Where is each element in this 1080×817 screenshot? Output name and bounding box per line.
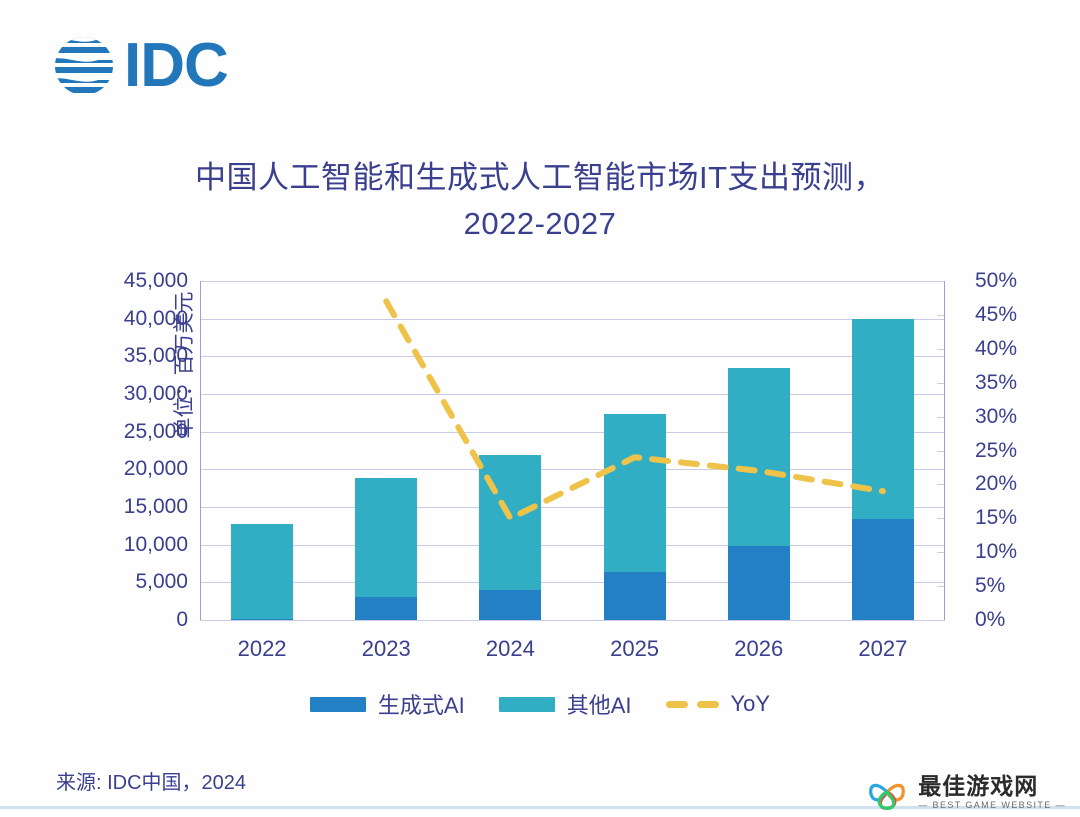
y-axis-right-tickmark bbox=[937, 315, 944, 316]
y-axis-right-tickmark bbox=[937, 620, 944, 621]
y-axis-right-tickmark bbox=[937, 417, 944, 418]
y-axis-left-tick: 15,000 bbox=[96, 495, 188, 519]
y-axis-right-tickmark bbox=[937, 586, 944, 587]
bar-segment-other-ai[interactable] bbox=[231, 524, 293, 619]
y-axis-right-tickmark bbox=[937, 518, 944, 519]
y-axis-left-tick: 25,000 bbox=[96, 420, 188, 444]
y-axis-right-line bbox=[944, 281, 945, 620]
y-axis-right-tick: 45% bbox=[975, 303, 1055, 327]
y-axis-right-tickmark bbox=[937, 451, 944, 452]
y-axis-left-tick: 30,000 bbox=[96, 382, 188, 406]
chart-legend: 生成式AI 其他AI YoY bbox=[0, 688, 1080, 720]
bar-column[interactable] bbox=[728, 281, 790, 620]
bar-segment-other-ai[interactable] bbox=[355, 478, 417, 597]
watermark-subtitle: — BEST GAME WEBSITE — bbox=[918, 801, 1066, 810]
y-axis-right-tick: 40% bbox=[975, 337, 1055, 361]
x-axis-tick: 2026 bbox=[699, 636, 819, 662]
y-axis-right-tick: 10% bbox=[975, 540, 1055, 564]
gridline bbox=[200, 620, 945, 621]
bar-column[interactable] bbox=[355, 281, 417, 620]
legend-label-gen-ai: 生成式AI bbox=[378, 688, 465, 720]
y-axis-right-tick: 35% bbox=[975, 371, 1055, 395]
bar-column[interactable] bbox=[479, 281, 541, 620]
legend-label-yoy: YoY bbox=[731, 691, 771, 717]
x-axis-tick: 2027 bbox=[823, 636, 943, 662]
idc-logo: IDC bbox=[52, 34, 228, 98]
x-axis-tick: 2025 bbox=[575, 636, 695, 662]
bar-segment-other-ai[interactable] bbox=[479, 455, 541, 589]
gridline bbox=[200, 432, 945, 433]
idc-globe-icon bbox=[52, 34, 116, 98]
y-axis-right-tickmark bbox=[937, 281, 944, 282]
bar-segment-gen-ai[interactable] bbox=[231, 619, 293, 621]
idc-wordmark: IDC bbox=[124, 35, 228, 97]
watermark-logo-icon bbox=[865, 770, 909, 814]
bar-column[interactable] bbox=[231, 281, 293, 620]
gridline bbox=[200, 394, 945, 395]
legend-swatch-other-ai bbox=[499, 697, 555, 712]
watermark: 最佳游戏网 — BEST GAME WEBSITE — bbox=[865, 770, 1066, 814]
y-axis-right-tick: 15% bbox=[975, 506, 1055, 530]
gridline bbox=[200, 545, 945, 546]
bar-column[interactable] bbox=[852, 281, 914, 620]
source-note: 来源: IDC中国，2024 bbox=[56, 766, 246, 795]
gridline bbox=[200, 582, 945, 583]
x-axis-tick: 2023 bbox=[326, 636, 446, 662]
x-axis-tick: 2024 bbox=[450, 636, 570, 662]
bar-segment-other-ai[interactable] bbox=[604, 414, 666, 572]
legend-item-yoy[interactable]: YoY bbox=[666, 691, 771, 717]
chart-title-line1: 中国人工智能和生成式人工智能市场IT支出预测， bbox=[120, 155, 960, 201]
bar-segment-gen-ai[interactable] bbox=[479, 590, 541, 621]
y-axis-right-tick: 0% bbox=[975, 608, 1055, 632]
x-axis-tick: 2022 bbox=[202, 636, 322, 662]
legend-label-other-ai: 其他AI bbox=[567, 688, 632, 720]
bar-segment-gen-ai[interactable] bbox=[604, 572, 666, 620]
gridline bbox=[200, 469, 945, 470]
y-axis-right-tickmark bbox=[937, 552, 944, 553]
bar-segment-other-ai[interactable] bbox=[852, 319, 914, 520]
gridline bbox=[200, 356, 945, 357]
legend-item-other-ai[interactable]: 其他AI bbox=[499, 688, 632, 720]
y-axis-right-tick: 50% bbox=[975, 269, 1055, 293]
y-axis-right-tick: 30% bbox=[975, 405, 1055, 429]
bar-segment-gen-ai[interactable] bbox=[852, 519, 914, 620]
y-axis-left-line bbox=[200, 281, 201, 620]
bar-segment-gen-ai[interactable] bbox=[355, 597, 417, 620]
y-axis-left-tick: 40,000 bbox=[96, 307, 188, 331]
y-axis-left: 45,00040,00035,00030,00025,00020,00015,0… bbox=[96, 281, 188, 620]
bar-segment-gen-ai[interactable] bbox=[728, 546, 790, 620]
y-axis-right-tick: 5% bbox=[975, 574, 1055, 598]
gridline bbox=[200, 319, 945, 320]
legend-dash-yoy bbox=[666, 701, 719, 708]
chart-title: 中国人工智能和生成式人工智能市场IT支出预测， 2022-2027 bbox=[120, 155, 960, 247]
y-axis-left-tick: 5,000 bbox=[96, 570, 188, 594]
watermark-title: 最佳游戏网 bbox=[918, 774, 1066, 798]
x-axis: 202220232024202520262027 bbox=[200, 636, 945, 670]
y-axis-left-tick: 20,000 bbox=[96, 457, 188, 481]
y-axis-title: 单位：百万美元 bbox=[38, 125, 68, 375]
y-axis-right-tickmark bbox=[937, 484, 944, 485]
legend-swatch-gen-ai bbox=[310, 697, 366, 712]
plot-area bbox=[200, 281, 945, 620]
y-axis-right-tick: 25% bbox=[975, 439, 1055, 463]
y-axis-left-tick: 10,000 bbox=[96, 533, 188, 557]
y-axis-left-tick: 0 bbox=[96, 608, 188, 632]
y-axis-right-tick: 20% bbox=[975, 472, 1055, 496]
gridline bbox=[200, 281, 945, 282]
gridline bbox=[200, 507, 945, 508]
y-axis-left-tick: 35,000 bbox=[96, 344, 188, 368]
legend-item-gen-ai[interactable]: 生成式AI bbox=[310, 688, 465, 720]
chart-page: IDC 中国人工智能和生成式人工智能市场IT支出预测， 2022-2027 单位… bbox=[0, 0, 1080, 817]
chart-title-line2: 2022-2027 bbox=[120, 201, 960, 247]
y-axis-left-tick: 45,000 bbox=[96, 269, 188, 293]
bar-segment-other-ai[interactable] bbox=[728, 368, 790, 547]
bar-column[interactable] bbox=[604, 281, 666, 620]
y-axis-right-tickmark bbox=[937, 383, 944, 384]
y-axis-right-tickmark bbox=[937, 349, 944, 350]
y-axis-right: 50%45%40%35%30%25%20%15%10%5%0% bbox=[975, 281, 1055, 620]
